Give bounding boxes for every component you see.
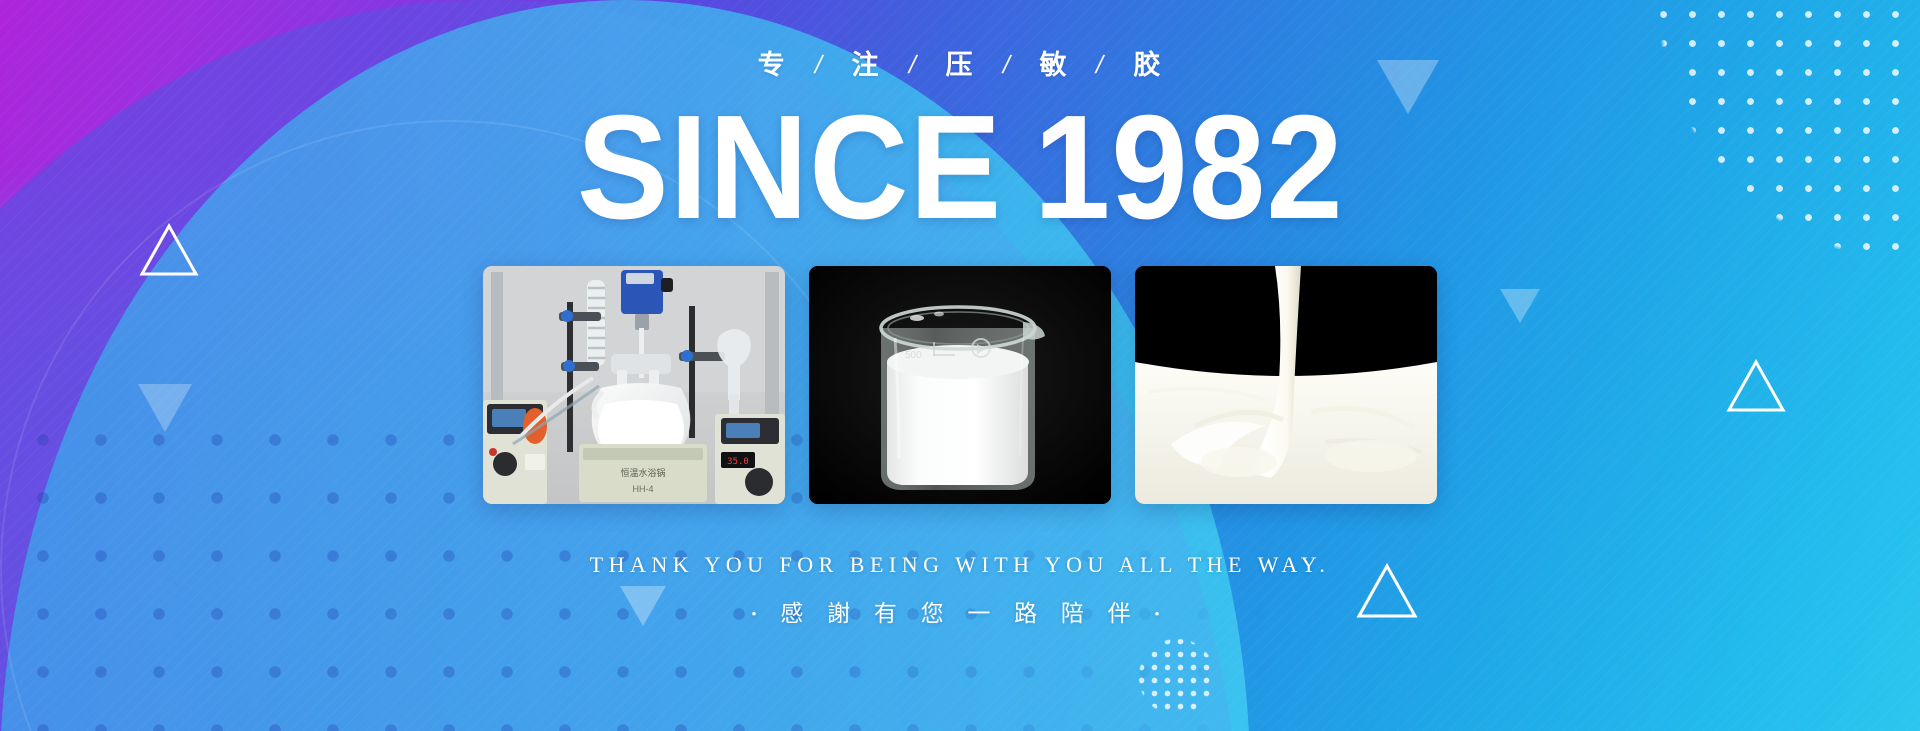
svg-text:35.0: 35.0 [727,457,749,467]
lab-reactor-photo: 恒温水浴锅 HH-4 35.0 [483,266,785,504]
headline-word: SINCE [577,85,1002,250]
kicker-word-5: 胶 [1133,52,1162,79]
tagline-chinese: 感 謝 有 您 一 路 陪 伴 [780,601,1139,626]
banner-content: 专 / 注 / 压 / 敏 / 胶 SINCE1982 [0,0,1920,731]
kicker-word-2: 注 [852,52,881,79]
headline: SINCE1982 [577,93,1344,244]
kicker-word-1: 专 [758,52,787,79]
kicker-separator-1: / [812,53,826,78]
promo-banner: 专 / 注 / 压 / 敏 / 胶 SINCE1982 [0,0,1920,731]
svg-text:500: 500 [905,350,922,361]
tagline-block: THANK YOU FOR BEING WITH YOU ALL THE WAY… [590,552,1331,628]
beaker-emulsion-photo: 500 [809,266,1111,504]
kicker-line: 专 / 注 / 压 / 敏 / 胶 [758,52,1163,79]
kicker-separator-2: / [906,53,920,78]
tagline-english: THANK YOU FOR BEING WITH YOU ALL THE WAY… [590,552,1331,578]
headline-year: 1982 [1033,85,1343,250]
svg-text:HH-4: HH-4 [632,484,653,494]
kicker-separator-4: / [1094,53,1108,78]
kicker-word-3: 压 [946,52,975,79]
bullet-left-icon: • [751,607,765,623]
tagline-chinese-line: • 感 謝 有 您 一 路 陪 伴 • [590,594,1331,628]
kicker-word-4: 敏 [1039,52,1068,79]
pouring-adhesive-photo [1135,266,1437,504]
bullet-right-icon: • [1154,607,1168,623]
photo-strip: 恒温水浴锅 HH-4 35.0 [483,266,1437,504]
svg-text:恒温水浴锅: 恒温水浴锅 [620,467,665,478]
kicker-separator-3: / [1000,53,1014,78]
